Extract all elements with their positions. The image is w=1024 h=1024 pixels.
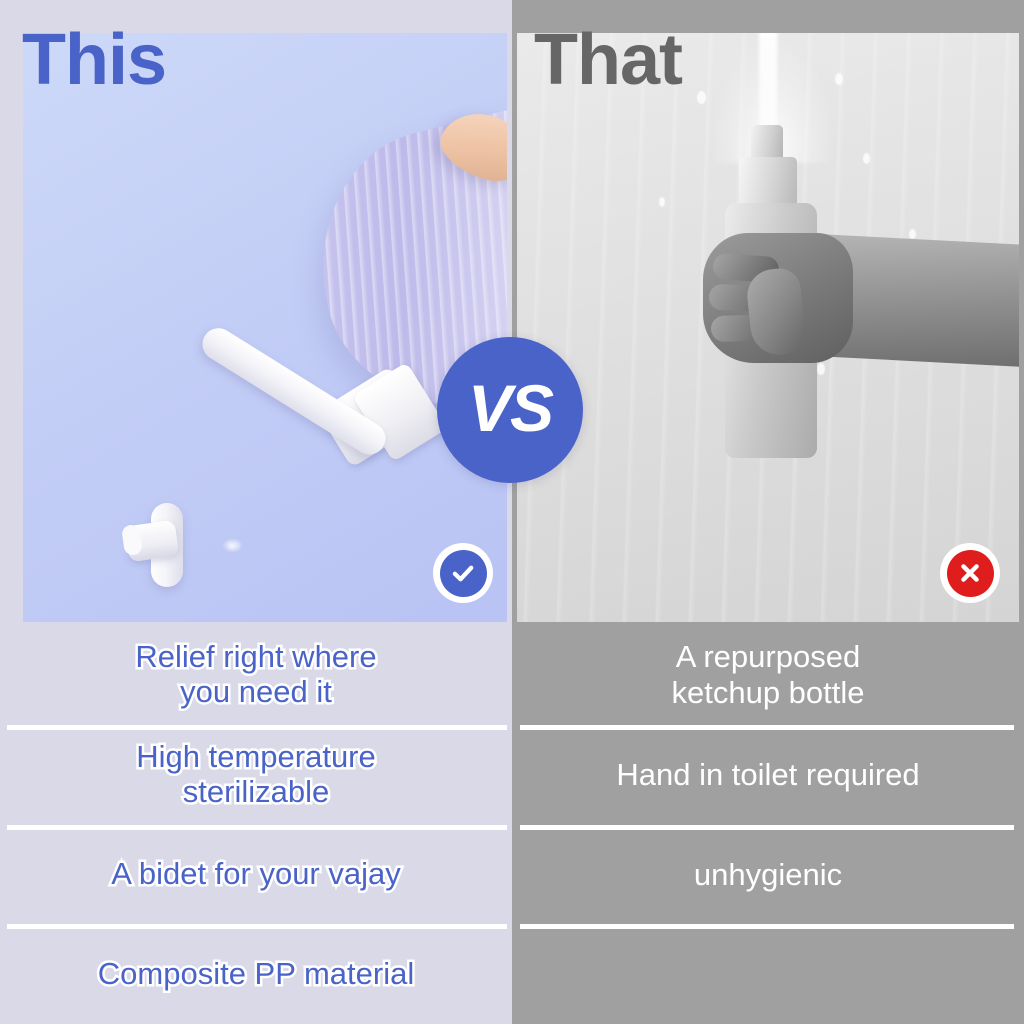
water-spray-streaks	[23, 183, 243, 553]
water-droplet	[835, 73, 843, 85]
left-feature-row-3: A bidet for your vajay	[0, 825, 512, 925]
left-image-panel	[23, 33, 507, 622]
bottle-nozzle	[751, 125, 783, 161]
check-badge	[433, 543, 493, 603]
vs-label: VS	[468, 375, 552, 441]
right-feature-label-1: A repurposedketchup bottle	[671, 639, 864, 710]
water-droplet	[697, 91, 706, 104]
right-feature-row-1: A repurposedketchup bottle	[512, 625, 1024, 725]
right-feature-row-4	[512, 924, 1024, 1024]
left-feature-label-1: Relief right whereyou need it	[135, 640, 376, 709]
right-image-panel	[517, 33, 1019, 622]
right-feature-list: A repurposedketchup bottle Hand in toile…	[512, 625, 1024, 1024]
left-feature-row-4: Composite PP material	[0, 924, 512, 1024]
x-circle-icon	[947, 550, 994, 597]
right-heading: That	[534, 24, 682, 96]
left-feature-list: Relief right whereyou need it High tempe…	[0, 625, 512, 1024]
right-feature-label-2: Hand in toilet required	[616, 757, 919, 793]
left-feature-row-1: Relief right whereyou need it	[0, 625, 512, 725]
vs-badge: VS	[437, 337, 583, 483]
left-feature-label-3: A bidet for your vajay	[111, 857, 401, 892]
check-circle-icon	[440, 550, 487, 597]
water-droplet	[863, 153, 870, 164]
right-column: That A repurposedketchup bottle Hand in …	[512, 0, 1024, 1024]
water-droplet	[909, 229, 916, 239]
water-droplet	[817, 363, 825, 375]
x-badge	[940, 543, 1000, 603]
left-heading: This	[22, 24, 166, 96]
left-feature-row-2: High temperaturesterilizable	[0, 725, 512, 825]
right-feature-row-2: Hand in toilet required	[512, 725, 1024, 825]
water-droplet	[659, 197, 665, 207]
bottle-cap	[739, 157, 797, 207]
left-column: This Relief right whereyou need it High …	[0, 0, 512, 1024]
right-feature-row-3: unhygienic	[512, 825, 1024, 925]
comparison-infographic: This Relief right whereyou need it High …	[0, 0, 1024, 1024]
left-feature-label-4: Composite PP material	[98, 957, 414, 992]
right-feature-label-3: unhygienic	[694, 857, 842, 893]
left-feature-label-2: High temperaturesterilizable	[136, 740, 376, 809]
